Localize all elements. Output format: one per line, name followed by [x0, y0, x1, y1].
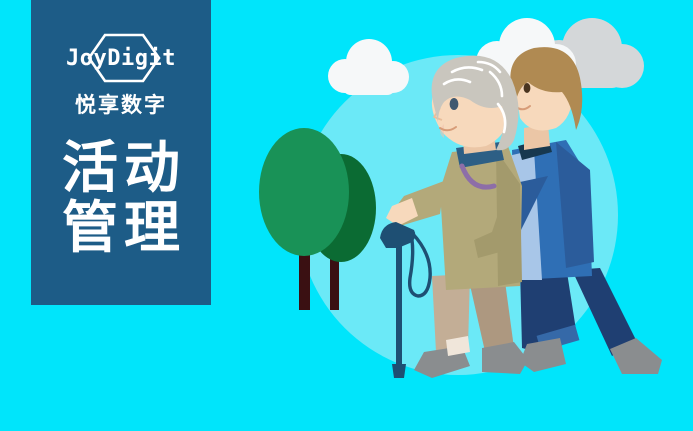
brand-lockup: JoyDigit 悦享数字 — [55, 32, 187, 119]
man-eye — [524, 83, 531, 93]
cane-shaft — [396, 236, 402, 374]
brand-logo: JoyDigit — [55, 32, 187, 84]
page-title: 活动 管理 — [56, 139, 186, 260]
brand-wordmark: JoyDigit — [55, 32, 187, 84]
page-title-line-2: 管理 — [56, 199, 186, 259]
title-panel: JoyDigit 悦享数字 活动 管理 — [31, 0, 211, 305]
cane-tip — [392, 364, 406, 378]
page-title-line-1: 活动 — [56, 139, 186, 199]
brand-subtitle: 悦享数字 — [75, 89, 167, 119]
woman-eye — [450, 98, 459, 110]
poster-canvas: JoyDigit 悦享数字 活动 管理 — [0, 0, 693, 431]
